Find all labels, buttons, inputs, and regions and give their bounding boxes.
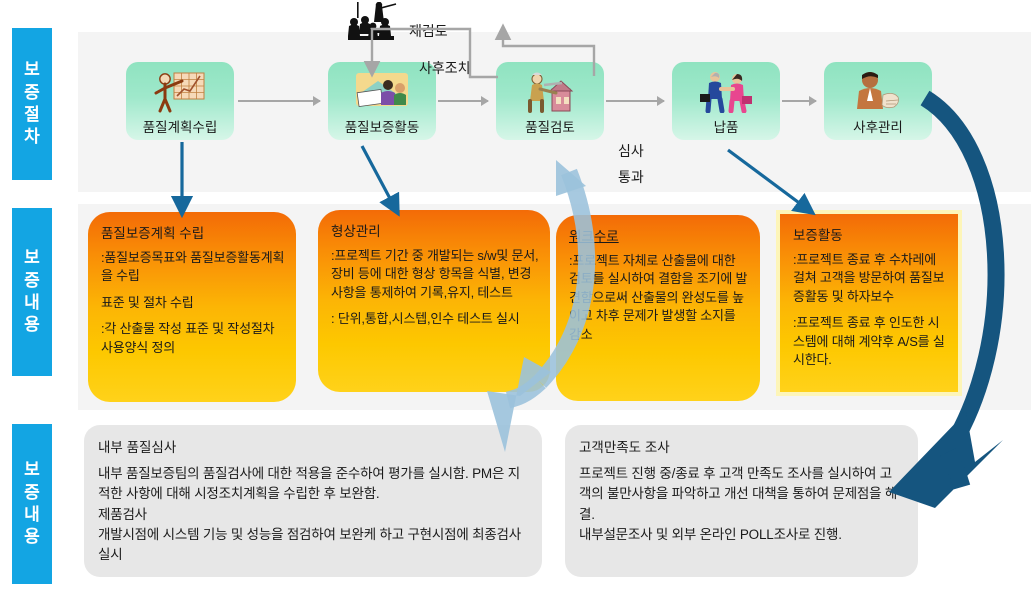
process-step-label: 품질검토	[525, 116, 575, 136]
sidebar-char: 증	[24, 270, 40, 292]
bottom-box-paragraph: 내부 품질보증팀의 품질검사에 대한 적용을 준수하여 평가를 실시함. PM은…	[98, 464, 528, 505]
bottom-box-paragraph: 프로젝트 진행 중/종료 후 고객 만족도 조사를 실시하여 고객의 불만사항을…	[579, 464, 904, 525]
diagram-canvas: 보 증 절 차 보 증 내 용 보 증 내 용 품질계획수립	[0, 0, 1031, 598]
process-step-4[interactable]: 납품	[672, 62, 780, 140]
content-box-title: 워크수로	[569, 225, 749, 245]
content-box-title: 형상관리	[331, 220, 539, 240]
process-step-label: 품질보증활동	[345, 116, 420, 136]
flow-arrow-2-3	[438, 100, 488, 102]
content-box-4[interactable]: 보증활동 :프로젝트 종료 후 수차레에 걸쳐 고객을 방문하여 품질보증활동 …	[776, 210, 962, 396]
sidebar-char: 용	[24, 314, 40, 336]
bottom-box-paragraph: 개발시점에 시스템 기능 및 성능을 점검하여 보완케 하고 구현시점에 최종검…	[98, 525, 528, 566]
sidebar-char: 내	[24, 504, 40, 526]
label-followup: 사후조치	[419, 58, 471, 78]
content-box-paragraph: :프로젝트 종료 후 수차레에 걸쳐 고객을 방문하여 품질보증활동 및 하자보…	[793, 251, 947, 306]
process-step-1[interactable]: 품질계획수립	[126, 62, 234, 140]
process-step-label: 사후관리	[853, 116, 903, 136]
content-box-paragraph: :프로젝트 기간 중 개발되는 s/w및 문서,장비 등에 대한 형상 항목을 …	[331, 247, 539, 302]
sidebar-item-content-upper[interactable]: 보 증 내 용	[12, 208, 52, 376]
sidebar-char: 절	[24, 104, 40, 126]
sidebar-char: 보	[24, 59, 40, 81]
content-box-paragraph: :각 산출물 작성 표준 및 작성절차 사용양식 정의	[101, 320, 285, 357]
content-box-paragraph: : 단위,통합,시스텝,인수 테스트 실시	[331, 310, 539, 328]
support-service-icon	[850, 69, 906, 113]
handshake-delivery-icon	[698, 69, 754, 113]
process-step-label: 납품	[714, 116, 739, 136]
content-box-title: 보증활동	[793, 224, 947, 244]
content-box-1[interactable]: 품질보증계획 수립 :품질보증목표와 품질보증활동계획을 수립 표준 및 절차 …	[88, 212, 296, 402]
documents-team-icon	[354, 69, 410, 113]
process-step-3[interactable]: 품질검토	[496, 62, 604, 140]
sidebar-char: 증	[24, 482, 40, 504]
label-rereview: 재검토	[409, 21, 448, 41]
content-box-3[interactable]: 워크수로 :프로젝트 자체로 산출물에 대한 검토를 실시하여 결함을 조기에 …	[556, 215, 760, 401]
content-box-paragraph: :품질보증목표와 품질보증활동계획을 수립	[101, 249, 285, 286]
sidebar-char: 보	[24, 459, 40, 481]
flow-arrow-3-4	[606, 100, 664, 102]
presenter-chart-icon	[152, 69, 208, 113]
sidebar-char: 증	[24, 82, 40, 104]
flow-arrow-1-2	[238, 100, 320, 102]
flow-arrow-4-5	[782, 100, 816, 102]
meeting-presentation-icon	[340, 2, 406, 48]
bottom-box-1[interactable]: 내부 품질심사 내부 품질보증팀의 품질검사에 대한 적용을 준수하여 평가를 …	[84, 425, 542, 577]
content-box-paragraph: :프로젝트 자체로 산출물에 대한 검토를 실시하여 결함을 조기에 발견함으로…	[569, 252, 749, 344]
label-gate-line2: 통과	[618, 167, 644, 187]
sidebar-item-process-stage[interactable]: 보 증 절 차	[12, 28, 52, 180]
sidebar-char: 용	[24, 526, 40, 548]
bottom-box-paragraph: 제품검사	[98, 505, 528, 525]
process-step-5[interactable]: 사후관리	[824, 62, 932, 140]
bottom-box-title: 내부 품질심사	[98, 436, 528, 456]
content-box-title: 품질보증계획 수립	[101, 222, 285, 242]
sidebar-char: 내	[24, 292, 40, 314]
label-gate-line1: 심사	[618, 141, 644, 161]
bottom-box-title: 고객만족도 조사	[579, 436, 904, 456]
bottom-box-2[interactable]: 고객만족도 조사 프로젝트 진행 중/종료 후 고객 만족도 조사를 실시하여 …	[565, 425, 918, 577]
inspector-review-icon	[522, 69, 578, 113]
sidebar-char: 보	[24, 247, 40, 269]
sidebar-item-content-lower[interactable]: 보 증 내 용	[12, 424, 52, 584]
process-step-label: 품질계획수립	[143, 116, 218, 136]
content-box-paragraph: 표준 및 절차 수립	[101, 294, 285, 312]
bottom-box-paragraph: 내부설문조사 및 외부 온라인 POLL조사로 진행.	[579, 525, 904, 545]
content-box-2[interactable]: 형상관리 :프로젝트 기간 중 개발되는 s/w및 문서,장비 등에 대한 형상…	[318, 210, 550, 392]
sidebar-char: 차	[24, 126, 40, 148]
content-box-paragraph: :프로젝트 종료 후 인도한 시스템에 대해 계약후 A/S를 실시한다.	[793, 314, 947, 369]
